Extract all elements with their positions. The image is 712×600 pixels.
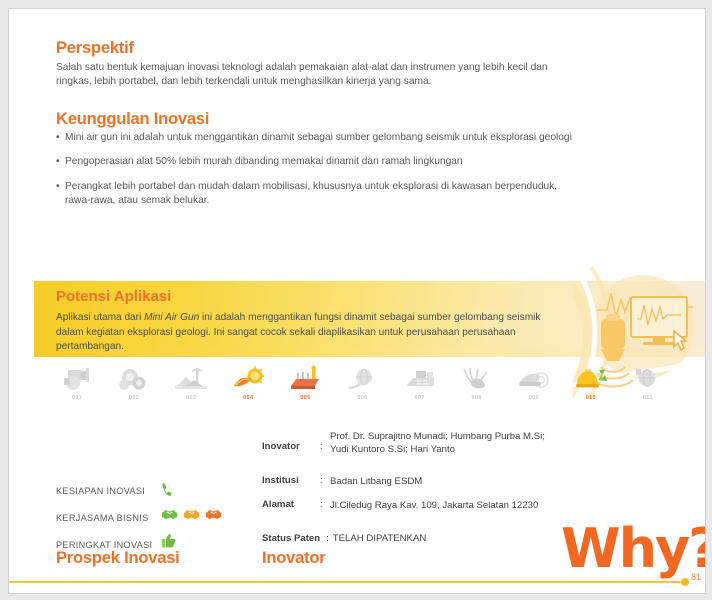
thumbsup-icon — [161, 533, 176, 549]
application-icon-005[interactable]: 005 — [283, 364, 327, 401]
application-icon-008[interactable]: 008 — [455, 364, 499, 401]
bullet-dot-icon: • — [56, 131, 65, 145]
field-label: Inovator — [262, 441, 320, 456]
bullet-dot-icon: • — [56, 180, 65, 209]
field-colon: : — [320, 441, 330, 456]
icon-number: 011 — [626, 395, 670, 401]
bullet-dot-icon: • — [56, 155, 65, 169]
bullet-text: Mini air gun ini adalah untuk menggantik… — [65, 131, 572, 145]
inovator-field-alamat: Alamat : Jl.Ciledug Raya Kav. 109, Jakar… — [262, 499, 602, 512]
factory-icon — [169, 364, 213, 392]
keunggulan-bullet-list: • Mini air gun ini adalah untuk menggant… — [56, 131, 572, 219]
field-colon: : — [320, 499, 330, 512]
application-icon-006[interactable]: 006 — [340, 364, 384, 401]
inovator-heading: Inovator — [262, 549, 326, 567]
status-paten-label: Status Paten — [262, 533, 320, 544]
inovator-field-institusi: Institusi : Badan Litbang ESDM — [262, 475, 592, 488]
icon-number: 009 — [512, 395, 556, 401]
icon-number: 003 — [169, 395, 213, 401]
plant-icon — [455, 364, 499, 392]
potensi-aplikasi-body: Aplikasi utama dari Mini Air Gun ini ada… — [56, 311, 556, 355]
application-icon-001[interactable]: 001 — [55, 364, 99, 401]
icon-number: 007 — [398, 395, 442, 401]
icon-number: 004 — [226, 395, 270, 401]
prospek-inovasi-heading: Prospek Inovasi — [56, 549, 180, 567]
footer-rule — [9, 581, 685, 583]
field-label: Alamat — [262, 499, 320, 512]
network-icon — [626, 364, 670, 392]
status-paten-row: Status Paten:TELAH DIPATENKAN — [262, 533, 426, 544]
potensi-aplikasi-heading: Potensi Aplikasi — [56, 288, 171, 305]
globe-icon — [340, 364, 384, 392]
prospek-indicator-kerjasama — [161, 508, 222, 521]
application-icon-007[interactable]: 007 — [398, 364, 442, 401]
list-item: • Mini air gun ini adalah untuk menggant… — [56, 131, 572, 145]
footer-dot-icon — [681, 578, 689, 586]
field-label: Institusi — [262, 475, 320, 488]
page-number: 81 — [691, 572, 701, 582]
gears-icon — [112, 364, 156, 392]
bullet-text: Pengoperasian alat 50% lebih murah diban… — [65, 155, 572, 169]
transport-icon — [512, 364, 556, 392]
potensi-text-a: Aplikasi utama dari — [56, 312, 144, 323]
application-icons-row: 001 002 — [55, 364, 670, 401]
agriculture-icon — [283, 364, 327, 392]
field-value: Prof. Dr. Suprajitno Munadi; Humbang Pur… — [330, 430, 592, 456]
application-icon-010[interactable]: 010 — [569, 364, 613, 401]
icon-number: 006 — [340, 395, 384, 401]
why-logo: Why? — [561, 522, 706, 576]
application-icon-002[interactable]: 002 — [112, 364, 156, 401]
machinery-icon — [55, 364, 99, 392]
application-icon-004[interactable]: 004 — [226, 364, 270, 401]
potensi-product-name: Mini Air Gun — [144, 312, 199, 323]
handshake-icon — [161, 508, 178, 521]
prospek-indicator-kesiapan — [161, 482, 174, 497]
prospek-indicator-peringkat — [161, 533, 176, 549]
perspektif-body-text: Salah satu bentuk kemajuan inovasi tekno… — [56, 61, 572, 90]
field-value: Jl.Ciledug Raya Kav. 109, Jakarta Selata… — [330, 499, 602, 512]
handshake-icon — [205, 508, 222, 521]
application-icon-011[interactable]: 011 — [626, 364, 670, 401]
icon-number: 008 — [455, 395, 499, 401]
inovator-field-inovator: Inovator : Prof. Dr. Suprajitno Munadi; … — [262, 441, 592, 456]
prospek-label-kesiapan: KESIAPAN INOVASI — [56, 486, 145, 496]
field-colon: : — [320, 475, 330, 488]
application-icon-009[interactable]: 009 — [512, 364, 556, 401]
handshake-icon — [183, 508, 200, 521]
document-page: Perspektif Salah satu bentuk kemajuan in… — [8, 8, 706, 594]
icon-number: 001 — [55, 395, 99, 401]
electronics-icon — [398, 364, 442, 392]
keunggulan-heading: Keunggulan Inovasi — [56, 110, 209, 128]
icon-number: 002 — [112, 395, 156, 401]
prospek-label-kerjasama: KERJASAMA BISNIS — [56, 513, 149, 523]
list-item: • Perangkat lebih portabel dan mudah dal… — [56, 180, 572, 209]
field-value: Badan Litbang ESDM — [330, 475, 592, 488]
mining-safety-icon — [569, 364, 613, 392]
perspektif-heading: Perspektif — [56, 39, 134, 57]
list-item: • Pengoperasian alat 50% lebih murah dib… — [56, 155, 572, 169]
bullet-text: Perangkat lebih portabel dan mudah dalam… — [65, 180, 572, 209]
energy-icon — [226, 364, 270, 392]
status-paten-colon: : — [326, 533, 329, 544]
phone-icon — [161, 482, 174, 497]
status-paten-value: TELAH DIPATENKAN — [333, 533, 426, 544]
icon-number: 005 — [283, 395, 327, 401]
application-icon-003[interactable]: 003 — [169, 364, 213, 401]
icon-number: 010 — [569, 395, 613, 401]
